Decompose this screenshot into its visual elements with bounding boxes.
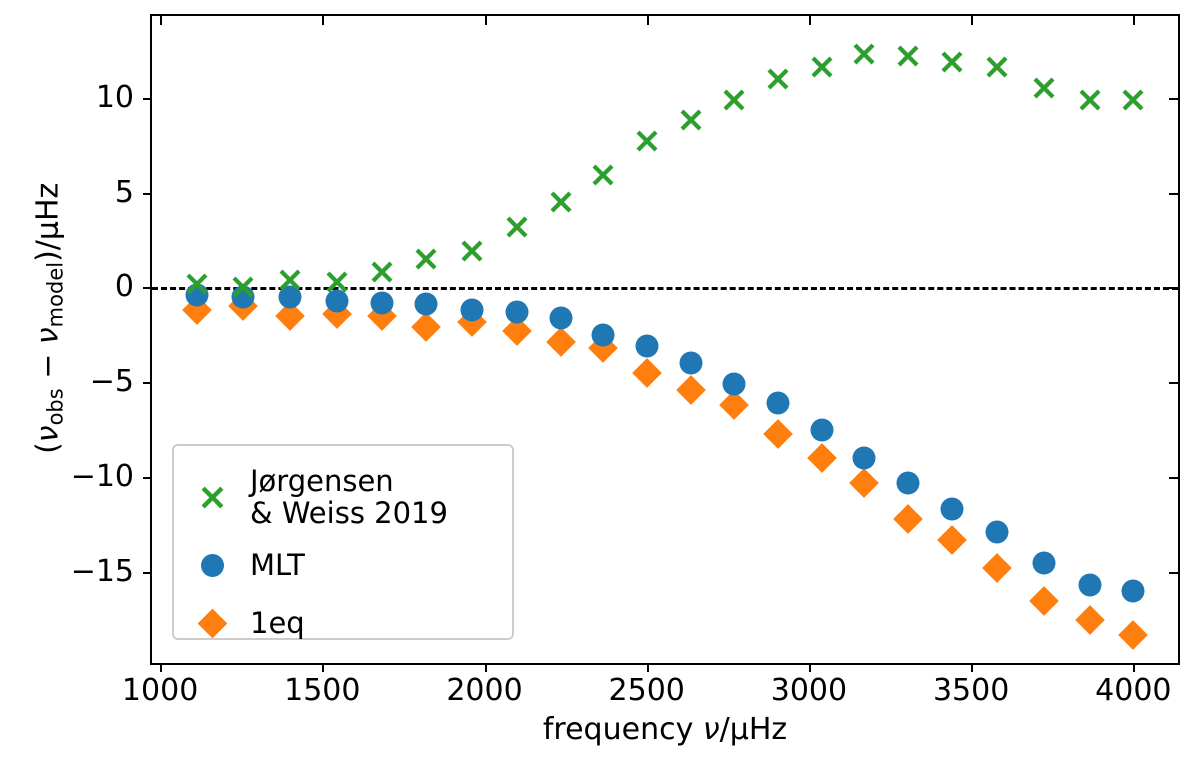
data-point-circle — [371, 291, 394, 314]
y-tick-right — [1169, 287, 1178, 289]
legend-label: 1eq — [250, 607, 305, 639]
y-tick-right — [1169, 572, 1178, 574]
data-point-circle — [1078, 574, 1101, 597]
data-point-diamond — [937, 525, 967, 555]
data-point-cross — [325, 270, 349, 294]
data-point-cross — [810, 55, 834, 79]
y-tick-right — [1169, 193, 1178, 195]
x-axis-label-prefix: frequency — [543, 712, 703, 747]
x-axis-label-suffix: /μHz — [720, 712, 788, 747]
data-point-cross — [505, 215, 529, 239]
data-point-cross — [278, 268, 302, 292]
data-point-diamond — [632, 358, 662, 388]
data-point-cross — [722, 88, 746, 112]
data-point-cross — [1078, 88, 1102, 112]
data-point-circle — [1122, 580, 1145, 603]
y-axis-label-sub-obs: obs — [43, 388, 67, 425]
x-tick-top — [160, 16, 162, 25]
y-axis-label-close: )/μHz — [31, 183, 66, 262]
legend-cross-icon — [200, 485, 225, 510]
x-tick — [971, 663, 973, 672]
data-point-circle — [723, 373, 746, 396]
x-axis-label-symbol: ν — [703, 712, 720, 747]
x-tick-label: 1000 — [122, 676, 198, 706]
data-point-diamond — [676, 375, 706, 405]
x-tick-label: 2500 — [609, 676, 685, 706]
zero-reference-line — [152, 287, 1178, 290]
data-point-cross — [896, 44, 920, 68]
x-axis-label: frequency ν/μHz — [150, 712, 1180, 747]
legend-label: Jørgensen & Weiss 2019 — [250, 465, 448, 530]
data-point-circle — [896, 471, 919, 494]
x-tick — [485, 663, 487, 672]
legend-circle-icon — [201, 554, 224, 577]
legend-entry: MLT — [174, 536, 512, 594]
y-tick-right — [1169, 382, 1178, 384]
x-tick-label: 1500 — [284, 676, 360, 706]
data-point-circle — [460, 299, 483, 322]
data-point-diamond — [849, 468, 879, 498]
data-point-diamond — [1029, 586, 1059, 616]
data-point-cross — [460, 239, 484, 263]
data-point-circle — [549, 306, 572, 329]
legend: Jørgensen & Weiss 2019MLT1eq — [172, 444, 514, 640]
x-tick — [322, 663, 324, 672]
x-tick-label: 3500 — [933, 676, 1009, 706]
legend-marker — [174, 554, 250, 577]
x-tick — [1133, 663, 1135, 672]
y-tick — [143, 193, 152, 195]
data-point-cross — [414, 247, 438, 271]
data-point-circle — [767, 392, 790, 415]
x-tick-top — [485, 16, 487, 25]
data-point-circle — [810, 418, 833, 441]
data-point-diamond — [807, 443, 837, 473]
x-tick-top — [1133, 16, 1135, 25]
data-point-diamond — [1075, 605, 1105, 635]
x-tick-top — [647, 16, 649, 25]
legend-marker — [174, 613, 250, 634]
y-tick — [143, 98, 152, 100]
x-tick-label: 3000 — [771, 676, 847, 706]
data-point-circle — [635, 335, 658, 358]
data-point-diamond — [893, 504, 923, 534]
y-axis-label-minus: − — [31, 344, 66, 388]
x-tick — [160, 663, 162, 672]
y-tick-label: −15 — [71, 557, 134, 587]
data-point-diamond — [1118, 620, 1148, 650]
x-tick — [647, 663, 649, 672]
legend-entry: 1eq — [174, 594, 512, 652]
x-tick — [809, 663, 811, 672]
y-tick — [143, 477, 152, 479]
y-tick-right — [1169, 477, 1178, 479]
data-point-diamond — [411, 312, 441, 342]
x-tick-top — [971, 16, 973, 25]
y-tick-label: −10 — [71, 462, 134, 492]
data-point-cross — [185, 272, 209, 296]
legend-marker — [174, 485, 250, 510]
legend-diamond-icon — [197, 608, 227, 638]
data-point-circle — [940, 498, 963, 521]
data-point-cross — [1121, 88, 1145, 112]
data-point-circle — [505, 301, 528, 324]
legend-label: MLT — [250, 549, 305, 581]
y-tick — [143, 572, 152, 574]
data-point-cross — [370, 260, 394, 284]
data-point-cross — [940, 50, 964, 74]
y-tick-right — [1169, 98, 1178, 100]
x-tick-label: 2000 — [446, 676, 522, 706]
y-tick-label: 10 — [96, 83, 134, 113]
data-point-circle — [415, 293, 438, 316]
data-point-cross — [985, 55, 1009, 79]
y-axis-label-open: ( — [31, 442, 66, 454]
data-point-cross — [591, 163, 615, 187]
data-point-cross — [635, 129, 659, 153]
data-point-cross — [852, 42, 876, 66]
data-point-cross — [1032, 76, 1056, 100]
figure-scatter-frequency-residuals: 10001500200025003000350040001050−5−10−15… — [0, 0, 1200, 780]
data-point-cross — [766, 67, 790, 91]
y-axis-label-nu-model: ν — [31, 327, 66, 344]
y-axis-label-sub-model: model — [43, 262, 67, 327]
data-point-circle — [986, 521, 1009, 544]
x-tick-top — [322, 16, 324, 25]
data-point-diamond — [763, 419, 793, 449]
y-tick — [143, 287, 152, 289]
data-point-circle — [679, 352, 702, 375]
legend-entry: Jørgensen & Weiss 2019 — [174, 458, 512, 536]
data-point-cross — [549, 190, 573, 214]
x-tick-label: 4000 — [1095, 676, 1171, 706]
y-tick — [143, 382, 152, 384]
x-tick-top — [809, 16, 811, 25]
y-axis-label-nu-obs: ν — [31, 425, 66, 442]
data-point-circle — [591, 323, 614, 346]
data-point-circle — [853, 447, 876, 470]
data-point-cross — [231, 275, 255, 299]
data-point-circle — [1033, 551, 1056, 574]
y-tick-label: 5 — [115, 178, 134, 208]
data-point-diamond — [546, 328, 576, 358]
data-point-diamond — [982, 553, 1012, 583]
y-axis-label: (νobs − νmodel)/μHz — [31, 8, 68, 628]
y-tick-label: 0 — [115, 272, 134, 302]
y-tick-label: −5 — [90, 367, 134, 397]
data-point-cross — [679, 108, 703, 132]
